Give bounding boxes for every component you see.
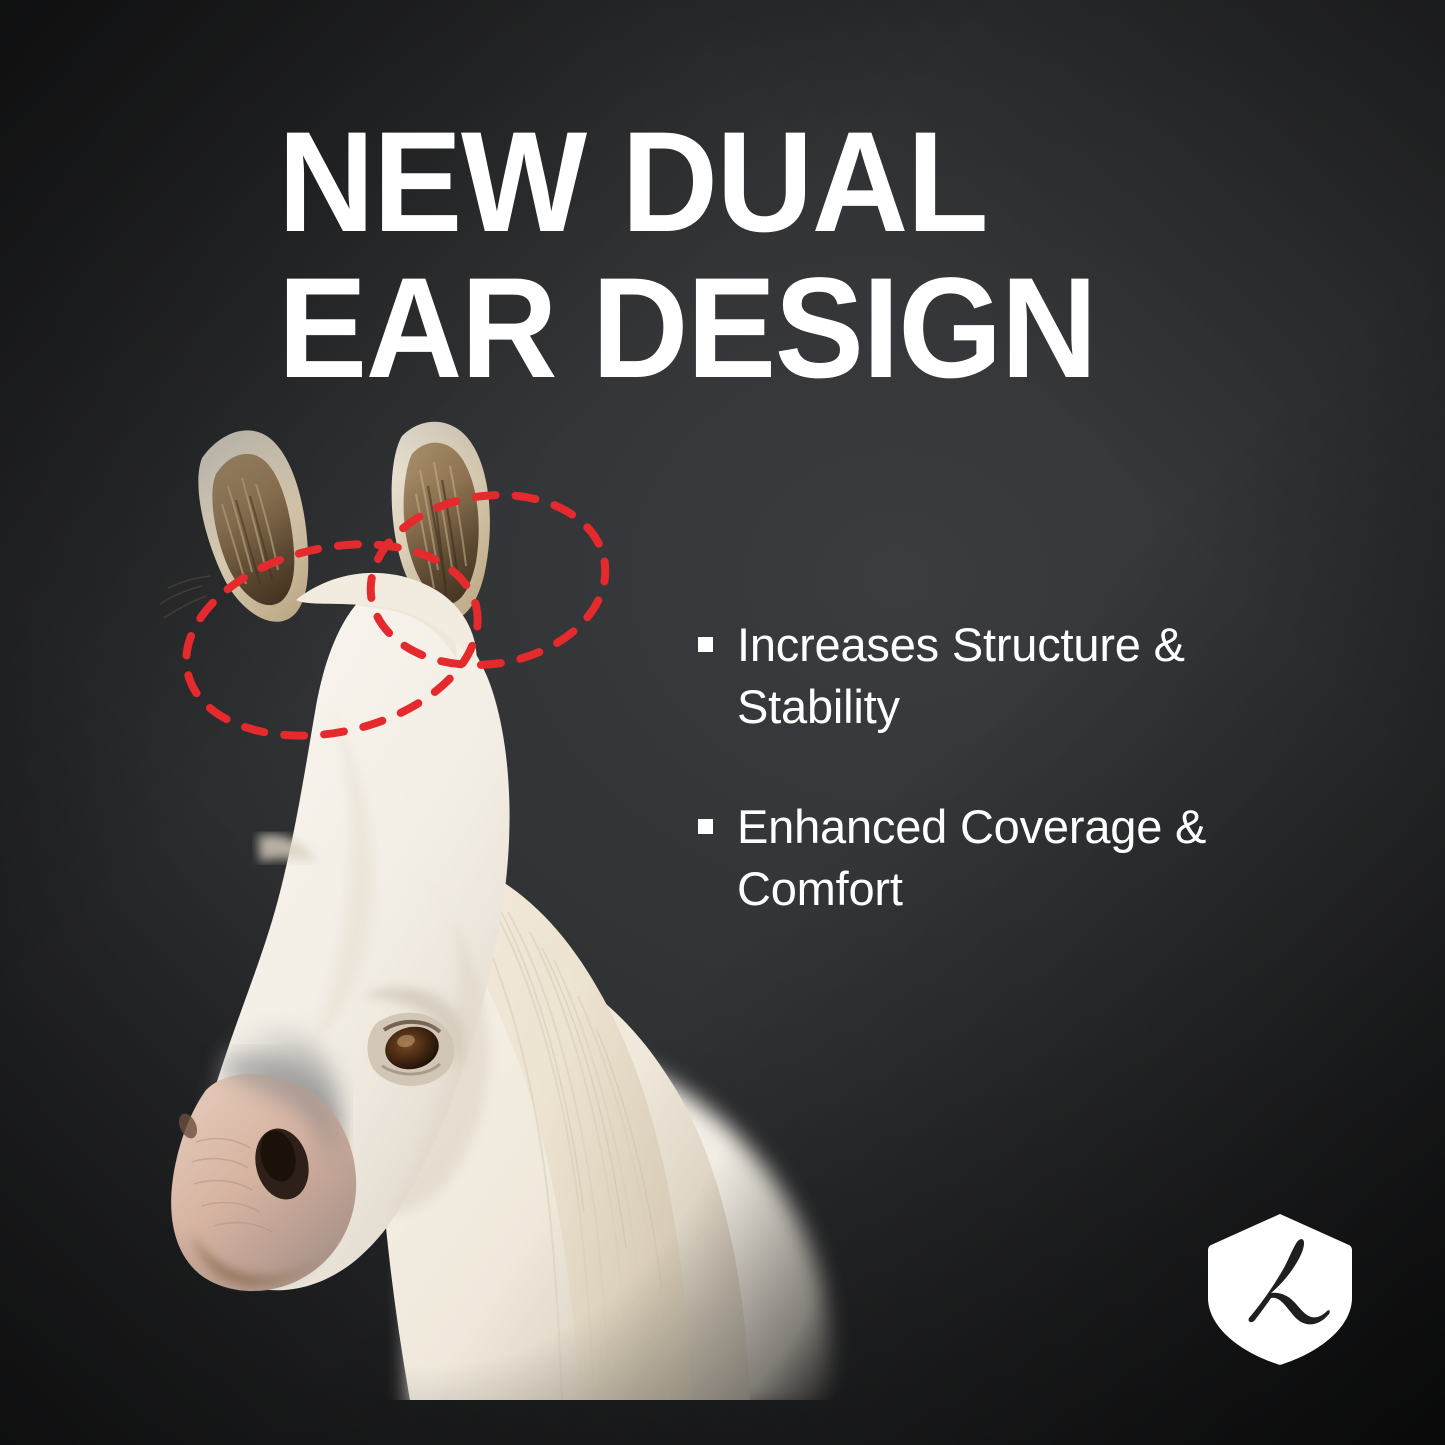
square-bullet-icon xyxy=(698,819,713,834)
promo-graphic: NEW DUAL EAR DESIGN Increases Structure … xyxy=(0,0,1445,1445)
headline-line-1: NEW DUAL xyxy=(278,110,1176,256)
shield-k-icon xyxy=(1205,1212,1355,1367)
feature-list: Increases Structure & Stability Enhanced… xyxy=(698,614,1358,920)
page-title: NEW DUAL EAR DESIGN xyxy=(278,110,1238,402)
square-bullet-icon xyxy=(698,637,713,652)
list-item: Increases Structure & Stability xyxy=(698,614,1358,738)
list-item-label: Enhanced Coverage & Comfort xyxy=(737,796,1345,920)
shield-shape xyxy=(1208,1214,1352,1365)
list-item: Enhanced Coverage & Comfort xyxy=(698,796,1358,920)
headline-line-2: EAR DESIGN xyxy=(278,256,1176,402)
brand-logo xyxy=(1205,1212,1355,1367)
horse-ear-left xyxy=(198,430,308,621)
list-item-label: Increases Structure & Stability xyxy=(737,614,1345,738)
